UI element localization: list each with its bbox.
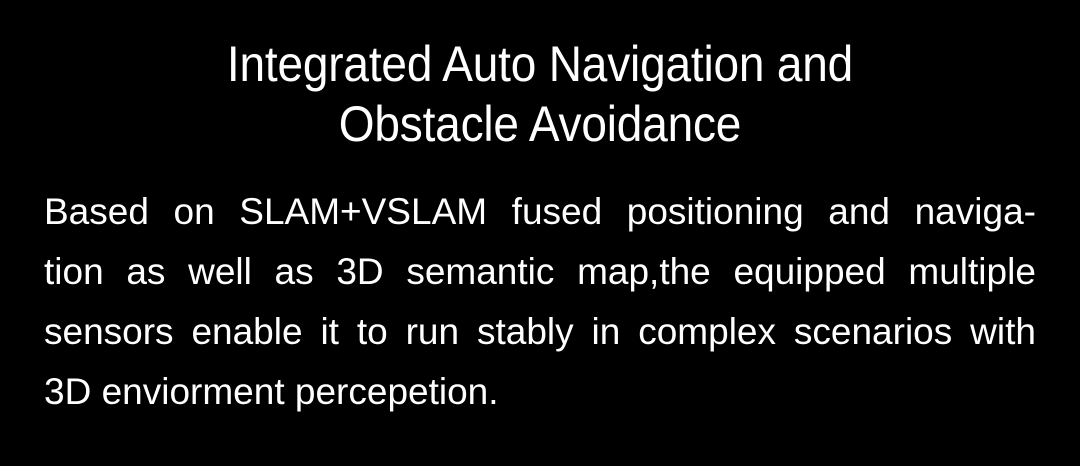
slide-body: BasedonSLAM+VSLAMfusedpositioningandnavi… bbox=[44, 182, 1036, 422]
body-word: multiple bbox=[908, 242, 1036, 302]
body-word: 3D bbox=[336, 242, 383, 302]
body-word: naviga- bbox=[915, 182, 1036, 242]
body-word: stably bbox=[477, 302, 574, 362]
body-word: on bbox=[174, 182, 215, 242]
body-word: tion bbox=[44, 242, 104, 302]
body-word: SLAM+VSLAM bbox=[239, 182, 487, 242]
body-word: and bbox=[828, 182, 890, 242]
body-word: scenarios bbox=[794, 302, 952, 362]
body-line-3: sensorsenableittorunstablyincomplexscena… bbox=[44, 302, 1036, 362]
body-word: enable bbox=[191, 302, 302, 362]
body-word: equipped bbox=[733, 242, 885, 302]
body-word: complex bbox=[638, 302, 776, 362]
title-line-2: Obstacle Avoidance bbox=[43, 94, 1037, 154]
body-word: sensors bbox=[44, 302, 174, 362]
body-word: Based bbox=[44, 182, 149, 242]
body-line-2: tionaswellas3Dsemanticmap,theequippedmul… bbox=[44, 242, 1036, 302]
body-word: map,the bbox=[577, 242, 711, 302]
body-word: it bbox=[320, 302, 339, 362]
body-word: as bbox=[275, 242, 314, 302]
body-word: with bbox=[970, 302, 1036, 362]
body-line-4: 3D enviorment percepetion. bbox=[44, 362, 1036, 422]
body-word: to bbox=[357, 302, 388, 362]
body-word: semantic bbox=[406, 242, 554, 302]
title-line-1: Integrated Auto Navigation and bbox=[43, 34, 1037, 94]
body-word: positioning bbox=[627, 182, 804, 242]
body-word: in bbox=[592, 302, 621, 362]
body-word: fused bbox=[512, 182, 603, 242]
body-word: well bbox=[188, 242, 252, 302]
body-word: as bbox=[126, 242, 165, 302]
slide-title: Integrated Auto Navigation and Obstacle … bbox=[0, 34, 1080, 154]
body-word: run bbox=[406, 302, 459, 362]
body-line-1: BasedonSLAM+VSLAMfusedpositioningandnavi… bbox=[44, 182, 1036, 242]
slide-root: Integrated Auto Navigation and Obstacle … bbox=[0, 0, 1080, 466]
